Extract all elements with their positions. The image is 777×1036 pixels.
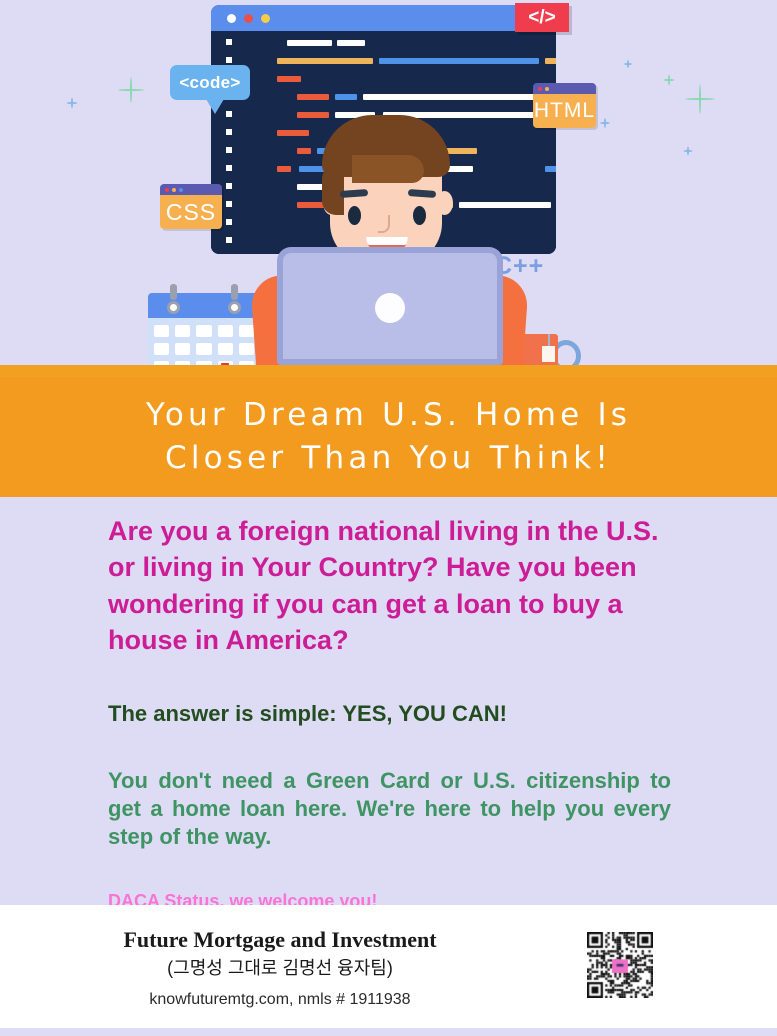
code-line-segment bbox=[379, 58, 539, 64]
code-line-segment bbox=[287, 40, 332, 46]
company-name: Future Mortgage and Investment bbox=[0, 927, 560, 953]
detail-paragraph: You don't need a Green Card or U.S. citi… bbox=[108, 767, 671, 851]
code-tag-badge: </> bbox=[515, 3, 569, 32]
hero-illustration: <code> CSS HTML </> C++ bbox=[0, 0, 777, 377]
bottom-strip bbox=[0, 1028, 777, 1036]
code-line-segment bbox=[545, 58, 556, 64]
qr-code[interactable] bbox=[587, 932, 653, 998]
laptop-icon bbox=[277, 247, 503, 365]
headline-line-1: Your Dream U.S. Home Is bbox=[146, 397, 631, 433]
code-line-segment bbox=[277, 58, 373, 64]
sparkle-icon bbox=[663, 74, 674, 85]
body-copy-section: Are you a foreign national living in the… bbox=[0, 497, 777, 905]
headline-line-2: Closer Than You Think! bbox=[165, 440, 612, 476]
eye-left bbox=[348, 206, 361, 225]
sparkle-icon bbox=[624, 60, 632, 68]
headline: Your Dream U.S. Home Is Closer Than You … bbox=[146, 394, 631, 480]
editor-title-bar bbox=[211, 5, 556, 31]
laptop-logo-icon bbox=[375, 293, 405, 323]
laptop-lid bbox=[277, 247, 503, 365]
window-minimize-icon bbox=[261, 14, 270, 23]
answer-paragraph: The answer is simple: YES, YOU CAN! bbox=[108, 701, 671, 727]
question-paragraph: Are you a foreign national living in the… bbox=[108, 513, 671, 659]
person-illustration bbox=[0, 95, 777, 365]
hair-swoop bbox=[352, 155, 424, 183]
eye-right bbox=[413, 206, 426, 225]
window-close-icon bbox=[244, 14, 253, 23]
company-name-korean: (그명성 그대로 김명선 융자팀) bbox=[0, 954, 560, 980]
code-line-segment bbox=[337, 40, 365, 46]
html-card-titlebar bbox=[533, 83, 596, 94]
contact-line: knowfuturemtg.com, nmls # 1911938 bbox=[0, 991, 560, 1009]
flyer-poster: <code> CSS HTML </> C++ bbox=[0, 0, 777, 1036]
footer: Future Mortgage and Investment (그명성 그대로 … bbox=[0, 905, 777, 1028]
window-dot-icon bbox=[227, 14, 236, 23]
code-line-segment bbox=[277, 76, 301, 82]
headline-banner: Your Dream U.S. Home Is Closer Than You … bbox=[0, 377, 777, 497]
code-bubble-label: <code> bbox=[179, 73, 240, 93]
desk-surface bbox=[0, 365, 777, 377]
